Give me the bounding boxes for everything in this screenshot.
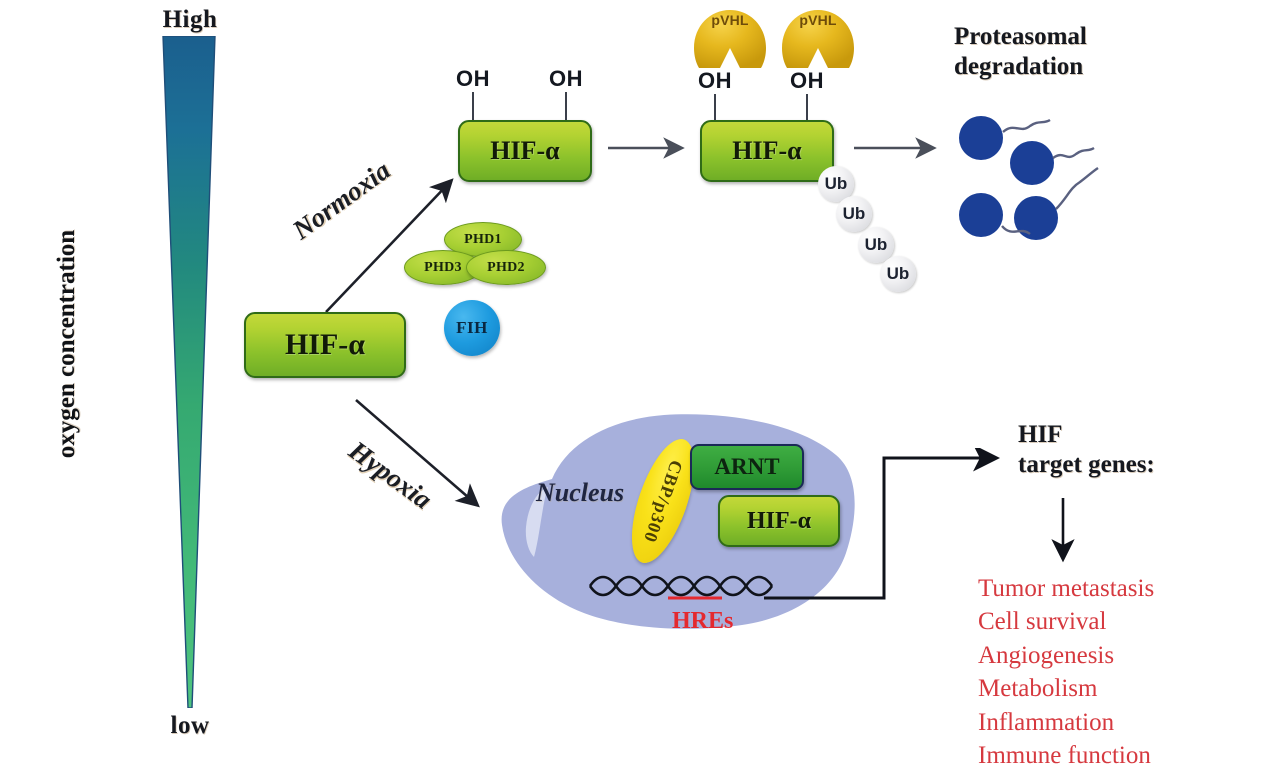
hre-label: HREs (672, 608, 733, 635)
proteasomal-degradation-title: Proteasomal degradation (954, 22, 1194, 81)
degraded-peptides-icon (954, 110, 1124, 250)
arrow-vhl-to-proteasome (852, 133, 944, 163)
phd2-enzyme: PHD2 (466, 250, 546, 285)
axis-bottom-label: low (152, 712, 228, 740)
pvhl-shape-icon (692, 8, 768, 72)
nucleus-label: Nucleus (536, 478, 624, 508)
hydroxyl-group-3: OH (698, 68, 732, 94)
target-title-line1: HIF (1018, 420, 1218, 450)
axis-caption: oxygen concentration (53, 219, 81, 469)
hydroxyl-stem-2 (565, 92, 567, 120)
hif-alpha-box-cytoplasmic: HIF-α (244, 312, 406, 378)
target-gene-item: Angiogenesis (978, 639, 1238, 672)
pvhl-complex-right: pVHL (780, 8, 856, 72)
degradation-title-line1: Proteasomal (954, 22, 1194, 52)
arrow-hydroxylation-to-vhl (606, 133, 692, 163)
fih-enzyme: FIH (444, 300, 500, 356)
hif-target-genes-title: HIF target genes: (1018, 420, 1218, 480)
degradation-title-line2: degradation (954, 52, 1194, 82)
dna-strand-icon (586, 568, 776, 602)
target-title-line2: target genes: (1018, 450, 1218, 480)
hydroxyl-group-1: OH (456, 66, 490, 92)
oxygen-gradient-wedge (158, 36, 220, 708)
target-gene-item: Immune function (978, 739, 1238, 772)
diagram-canvas: High low oxygen concentration (0, 0, 1280, 775)
target-gene-item: Tumor metastasis (978, 572, 1238, 605)
axis-top-label: High (152, 6, 228, 34)
hydroxyl-group-4: OH (790, 68, 824, 94)
hif-alpha-box-vhl-bound: HIF-α (700, 120, 834, 182)
target-gene-item: Metabolism (978, 672, 1238, 705)
arrow-target-genes-down (1048, 496, 1078, 564)
target-genes-list: Tumor metastasis Cell survival Angiogene… (978, 572, 1238, 772)
ubiquitin-4: Ub (880, 256, 916, 292)
ubiquitin-2: Ub (836, 196, 872, 232)
hydroxyl-stem-4 (806, 94, 808, 120)
pvhl-complex-left: pVHL (692, 8, 768, 72)
target-gene-item: Inflammation (978, 706, 1238, 739)
hydroxyl-stem-1 (472, 92, 474, 120)
hydroxyl-group-2: OH (549, 66, 583, 92)
hydroxyl-stem-3 (714, 94, 716, 120)
target-gene-item: Cell survival (978, 605, 1238, 638)
pvhl-shape-icon (780, 8, 856, 72)
hif-alpha-box-hydroxylated: HIF-α (458, 120, 592, 182)
